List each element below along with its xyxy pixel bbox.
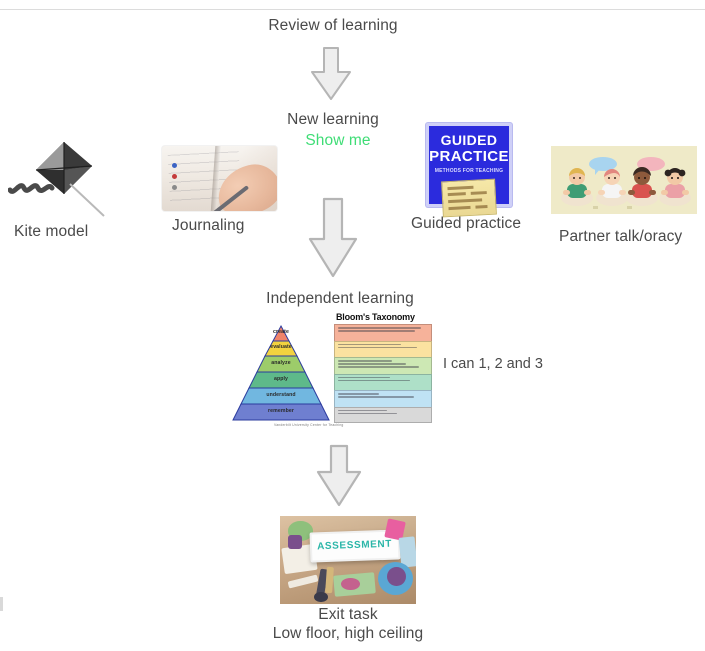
resource-caption-kite-model: Kite model <box>14 222 88 241</box>
step-label-independent-learning: Independent learning <box>266 289 414 308</box>
band-understand <box>334 390 432 407</box>
children-talking-illustration <box>551 146 697 214</box>
step-label-exit-task-subtitle: Low floor, high ceiling <box>273 624 424 643</box>
band-remember <box>334 407 432 424</box>
blooms-level-analyze: analyze <box>271 360 290 366</box>
notebook-color-dots <box>172 163 177 196</box>
band-apply <box>334 374 432 391</box>
step-label-exit-task: Exit task <box>318 605 377 624</box>
step-label-review-of-learning: Review of learning <box>268 16 397 35</box>
resource-caption-guided-practice: Guided practice <box>411 214 521 233</box>
assessment-photo: ASSESSMENT <box>280 516 416 604</box>
step-label-show-me: Show me <box>305 131 370 150</box>
worksheet-icon <box>441 179 497 218</box>
blooms-level-apply: apply <box>274 376 288 382</box>
blooms-annotation-i-can: I can 1, 2 and 3 <box>443 356 543 372</box>
blooms-pyramid: create evaluate analyze apply understand… <box>228 324 334 429</box>
pen-tip <box>314 592 328 603</box>
top-divider <box>0 9 705 10</box>
left-edge-mark <box>0 597 3 611</box>
resource-caption-partner-talk: Partner talk/oracy <box>559 227 682 246</box>
guided-practice-line1: GUIDED <box>429 133 509 147</box>
arrow-independent-learning-to-exit-task <box>315 444 363 508</box>
pink-dot <box>341 578 360 590</box>
purple-object <box>288 535 302 549</box>
blooms-level-create: create <box>273 329 289 335</box>
guided-practice-line2: PRACTICE <box>429 149 509 164</box>
blooms-level-understand: understand <box>266 392 295 398</box>
arrow-new-learning-to-independent-learning <box>307 197 359 279</box>
blooms-taxonomy-diagram: Bloom's Taxonomy <box>228 313 434 429</box>
resource-caption-journaling: Journaling <box>172 216 245 235</box>
diagram-canvas: Review of learning New learning Show me <box>0 0 705 651</box>
notebook-photo <box>162 146 277 211</box>
blooms-level-remember: remember <box>268 408 294 414</box>
step-label-new-learning: New learning <box>287 110 379 129</box>
guided-practice-subtitle: METHODS FOR TEACHING <box>429 168 509 174</box>
blooms-footnote: Vanderbilt University Center for Teachin… <box>274 423 344 427</box>
kite-icon <box>8 136 120 218</box>
band-create <box>334 324 432 341</box>
blooms-description-bands <box>334 324 432 423</box>
arrow-review-to-new-learning <box>309 46 353 102</box>
assessment-screen-text: ASSESSMENT <box>317 539 392 553</box>
band-evaluate <box>334 341 432 358</box>
blooms-taxonomy-title: Bloom's Taxonomy <box>336 312 415 322</box>
blooms-level-evaluate: evaluate <box>270 344 292 350</box>
band-analyze <box>334 357 432 374</box>
guided-practice-card: GUIDED PRACTICE METHODS FOR TEACHING <box>426 123 512 207</box>
